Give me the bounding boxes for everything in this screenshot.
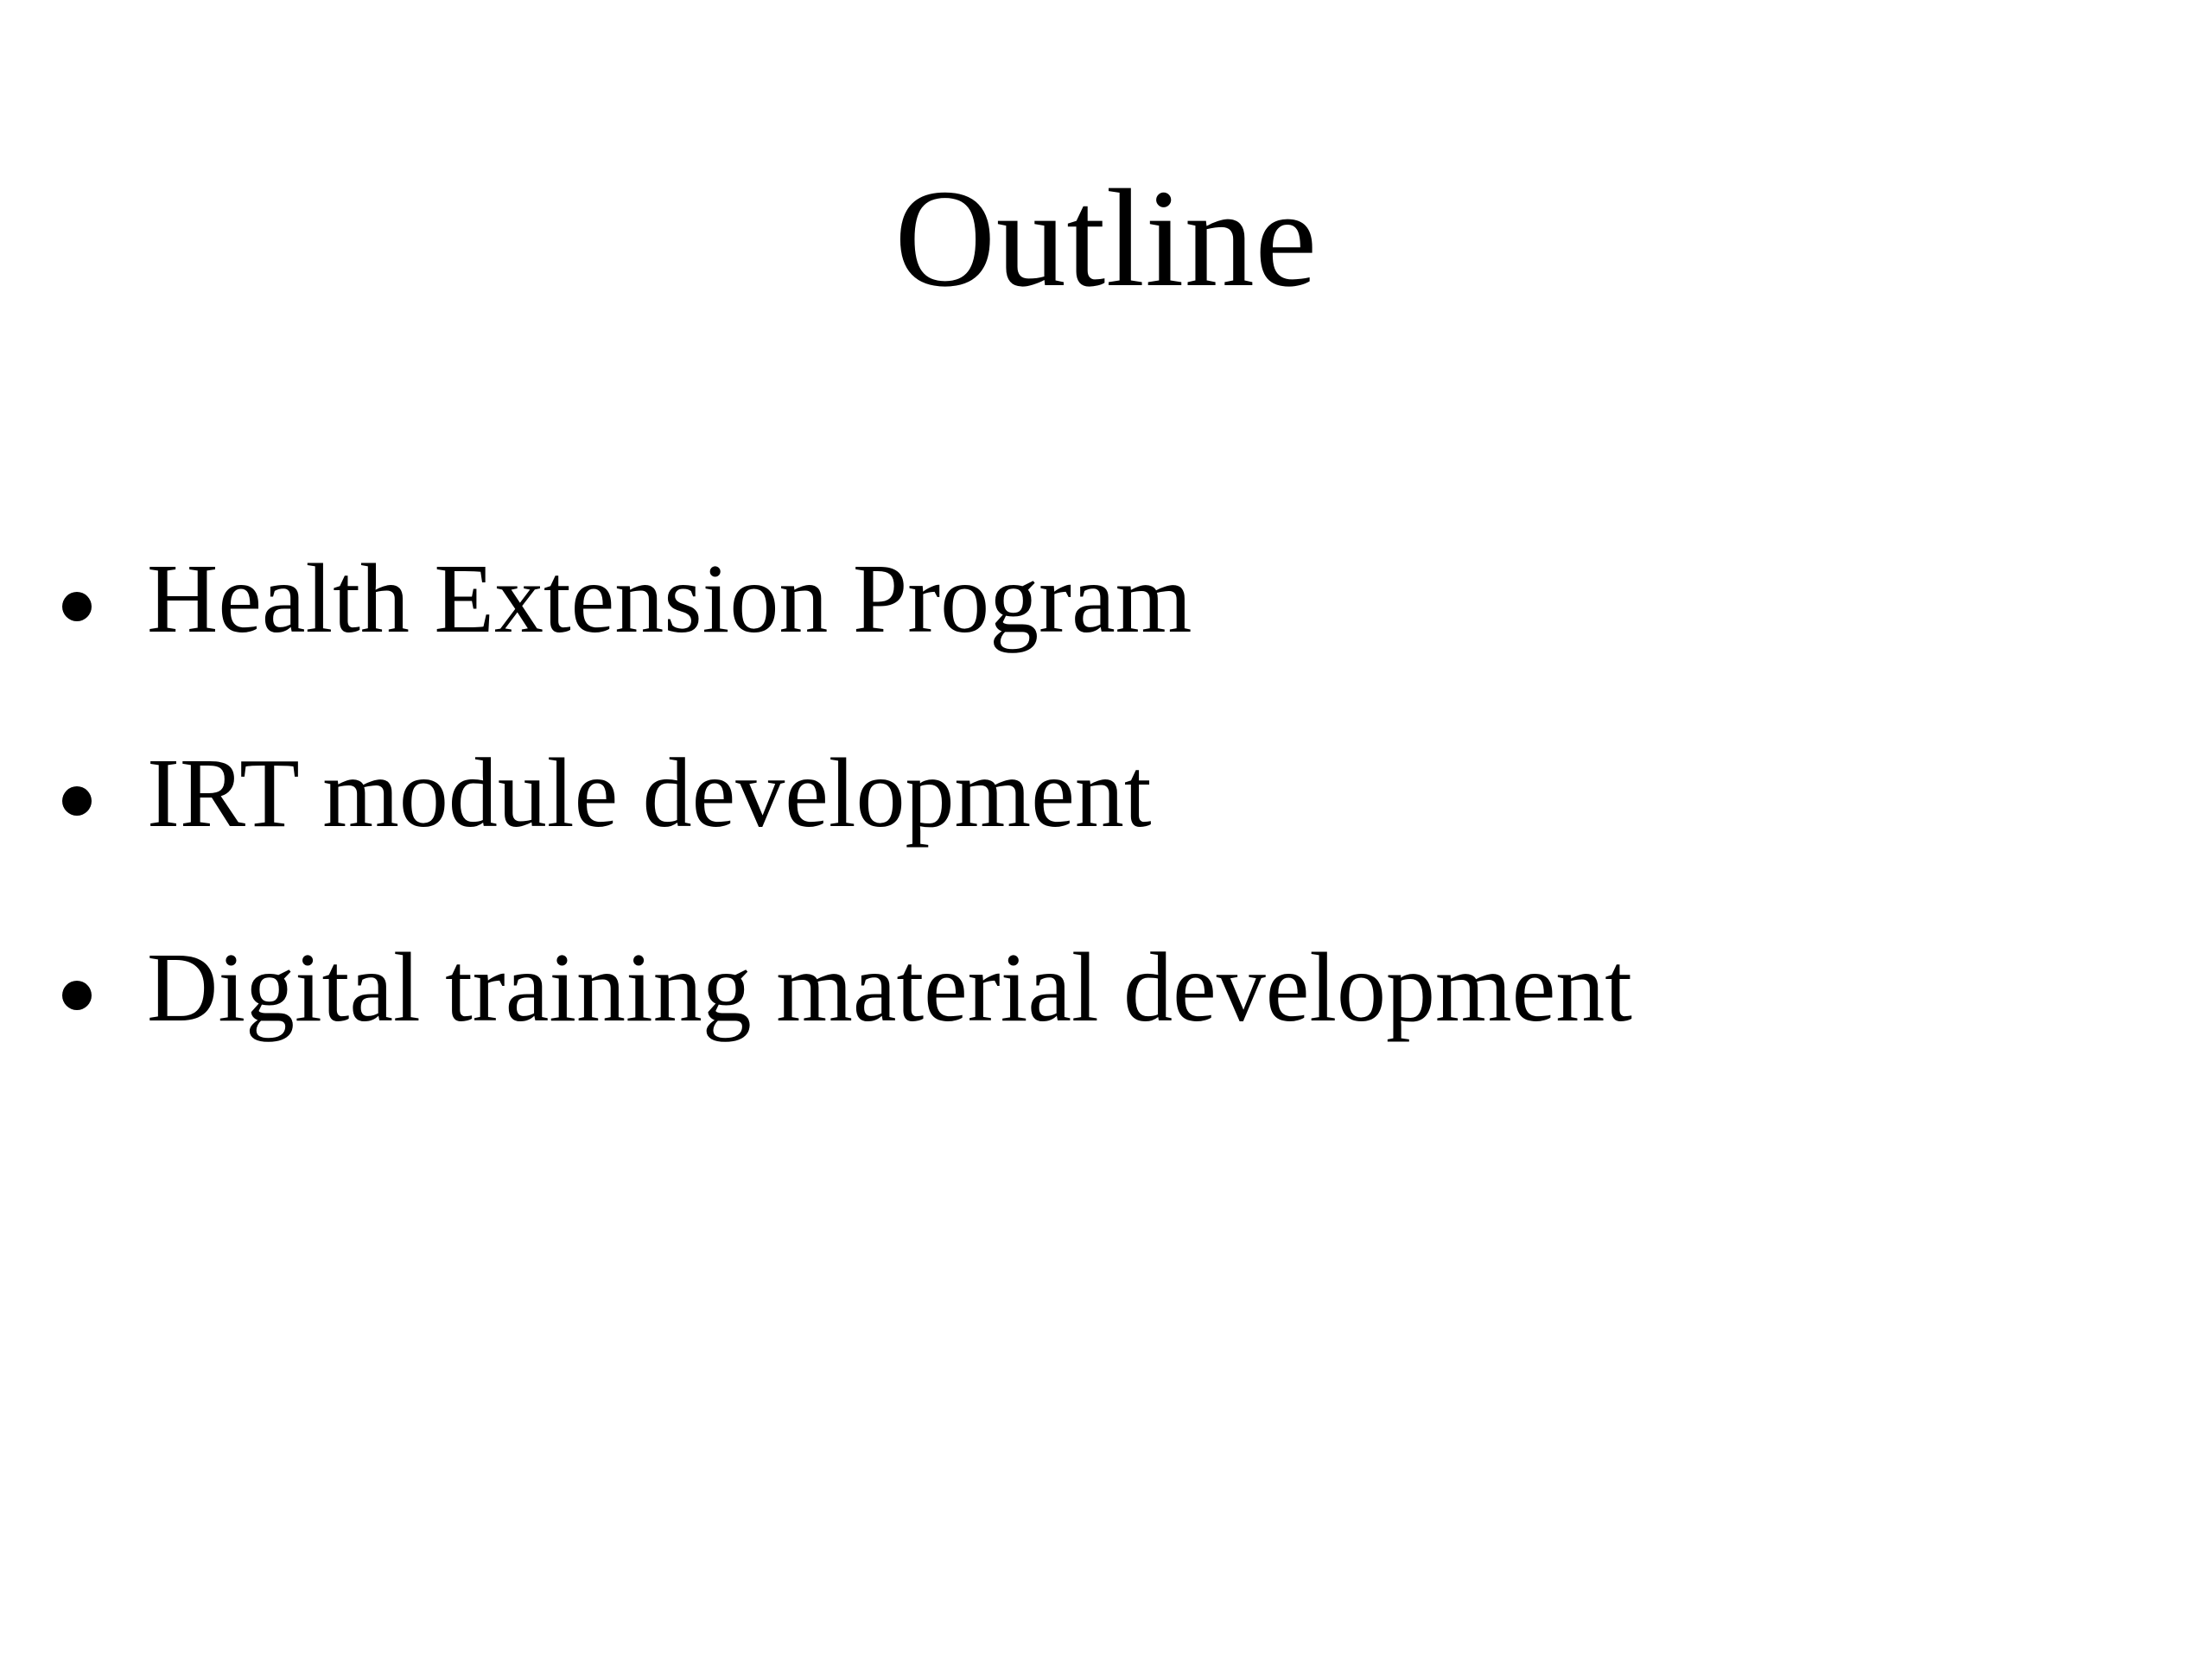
page-title: Outline bbox=[0, 169, 2212, 309]
list-item: Health Extension Program bbox=[0, 543, 2212, 737]
list-item-label: Health Extension Program bbox=[147, 543, 1192, 655]
list-item: Digital training material development bbox=[0, 931, 2212, 1126]
bullet-dot-icon bbox=[62, 592, 92, 621]
outline-bullet-list: Health Extension Program IRT module deve… bbox=[0, 543, 2212, 1126]
bullet-dot-icon bbox=[62, 786, 92, 816]
bullet-dot-icon bbox=[62, 981, 92, 1010]
presentation-slide: Outline Health Extension Program IRT mod… bbox=[0, 0, 2212, 1659]
list-item-label: Digital training material development bbox=[147, 931, 1632, 1044]
list-item-label: IRT module development bbox=[147, 737, 1152, 849]
list-item: IRT module development bbox=[0, 737, 2212, 931]
